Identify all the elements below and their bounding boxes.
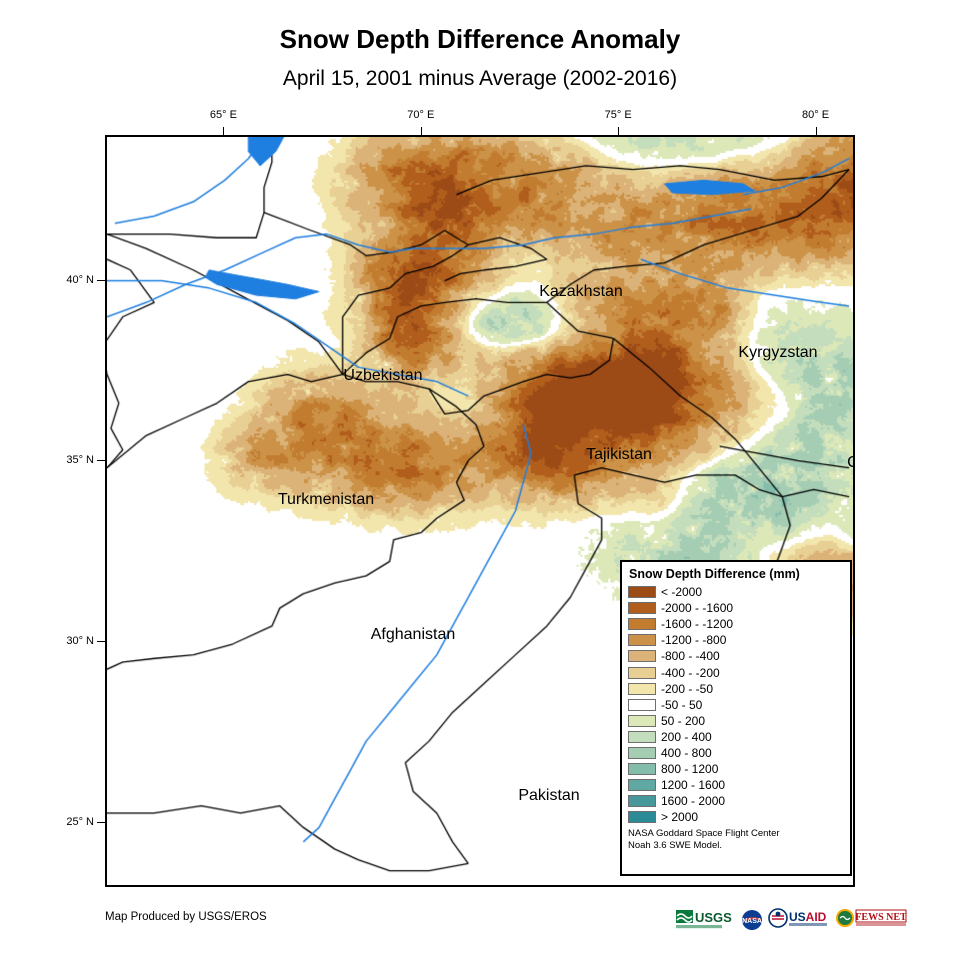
svg-text:USAID: USAID <box>789 910 827 924</box>
legend-swatch <box>628 747 656 759</box>
legend-label: -200 - -50 <box>661 683 713 695</box>
legend-swatch <box>628 602 656 614</box>
page-subtitle: April 15, 2001 minus Average (2002-2016) <box>0 67 960 91</box>
svg-text:NASA: NASA <box>742 918 762 925</box>
country-label-china: China <box>847 454 855 472</box>
usaid-logo: USAID <box>768 908 830 932</box>
legend-label: -1200 - -800 <box>661 634 726 646</box>
legend-row: -1600 - -1200 <box>628 616 844 632</box>
country-label-afghanistan: Afghanistan <box>371 626 456 644</box>
legend-label: 800 - 1200 <box>661 763 718 775</box>
legend-label: -50 - 50 <box>661 699 702 711</box>
lon-tick-label: 70° E <box>407 109 434 121</box>
legend-row: 800 - 1200 <box>628 761 844 777</box>
legend-row: -2000 - -1600 <box>628 600 844 616</box>
legend-label: 400 - 800 <box>661 747 712 759</box>
lon-tick <box>421 127 422 135</box>
lon-tick <box>618 127 619 135</box>
legend-class-list: < -2000-2000 - -1600-1600 - -1200-1200 -… <box>628 584 844 825</box>
legend-swatch <box>628 683 656 695</box>
legend-swatch <box>628 715 656 727</box>
legend-swatch <box>628 586 656 598</box>
legend-label: -1600 - -1200 <box>661 618 733 630</box>
lon-tick-label: 65° E <box>210 109 237 121</box>
legend-row: -200 - -50 <box>628 681 844 697</box>
legend-label: -800 - -400 <box>661 650 720 662</box>
legend-row: > 2000 <box>628 809 844 825</box>
legend-row: 400 - 800 <box>628 745 844 761</box>
svg-text:USGS: USGS <box>695 910 732 925</box>
lat-tick-label: 30° N <box>66 635 94 647</box>
legend-label: 1600 - 2000 <box>661 795 725 807</box>
lon-tick-label: 75° E <box>605 109 632 121</box>
legend-row: -400 - -200 <box>628 664 844 680</box>
page-title: Snow Depth Difference Anomaly <box>0 24 960 55</box>
legend-swatch <box>628 811 656 823</box>
legend-label: 50 - 200 <box>661 715 705 727</box>
lon-tick-label: 80° E <box>802 109 829 121</box>
legend-row: 50 - 200 <box>628 713 844 729</box>
legend-row: 1200 - 1600 <box>628 777 844 793</box>
legend-swatch <box>628 731 656 743</box>
map-credit: Map Produced by USGS/EROS <box>105 911 267 923</box>
lat-tick-label: 25° N <box>66 816 94 828</box>
legend-swatch <box>628 634 656 646</box>
usgs-logo: USGS <box>676 908 736 932</box>
legend-row: 200 - 400 <box>628 729 844 745</box>
legend-row: 1600 - 2000 <box>628 793 844 809</box>
legend-label: > 2000 <box>661 811 698 823</box>
lat-tick <box>97 641 105 642</box>
lon-tick <box>223 127 224 135</box>
country-label-turkmenistan: Turkmenistan <box>278 491 374 509</box>
nasa-logo: NASA <box>741 909 763 931</box>
legend-swatch <box>628 618 656 630</box>
legend-swatch <box>628 699 656 711</box>
legend-row: < -2000 <box>628 584 844 600</box>
lat-tick <box>97 280 105 281</box>
legend-swatch <box>628 795 656 807</box>
svg-text:FEWS NET: FEWS NET <box>855 912 907 923</box>
lat-tick <box>97 822 105 823</box>
legend-label: -400 - -200 <box>661 667 720 679</box>
legend-swatch <box>628 650 656 662</box>
legend-attribution: NASA Goddard Space Flight Center Noah 3.… <box>628 828 844 852</box>
legend-note-line-2: Noah 3.6 SWE Model. <box>628 840 844 852</box>
country-label-tajikistan: Tajikistan <box>586 446 652 464</box>
legend-swatch <box>628 667 656 679</box>
agency-logos: USGS NASA USAID FEWS NET <box>676 908 907 932</box>
country-label-uzbekistan: Uzbekistan <box>343 367 422 385</box>
lat-tick-label: 40° N <box>66 274 94 286</box>
legend-label: 200 - 400 <box>661 731 712 743</box>
legend-row: -50 - 50 <box>628 697 844 713</box>
legend-swatch <box>628 763 656 775</box>
legend-label: < -2000 <box>661 586 702 598</box>
legend-title: Snow Depth Difference (mm) <box>629 567 844 581</box>
legend-row: -800 - -400 <box>628 648 844 664</box>
country-label-kazakhstan: Kazakhstan <box>539 283 623 301</box>
legend-note-line-1: NASA Goddard Space Flight Center <box>628 828 844 840</box>
legend-label: -2000 - -1600 <box>661 602 733 614</box>
legend-panel[interactable]: Snow Depth Difference (mm) < -2000-2000 … <box>620 560 852 876</box>
country-label-kyrgyzstan: Kyrgyzstan <box>738 344 817 362</box>
country-label-pakistan: Pakistan <box>518 787 579 805</box>
legend-swatch <box>628 779 656 791</box>
fewsnet-logo: FEWS NET <box>835 908 907 932</box>
legend-label: 1200 - 1600 <box>661 779 725 791</box>
legend-row: -1200 - -800 <box>628 632 844 648</box>
lon-tick <box>816 127 817 135</box>
lat-tick-label: 35° N <box>66 454 94 466</box>
lat-tick <box>97 460 105 461</box>
